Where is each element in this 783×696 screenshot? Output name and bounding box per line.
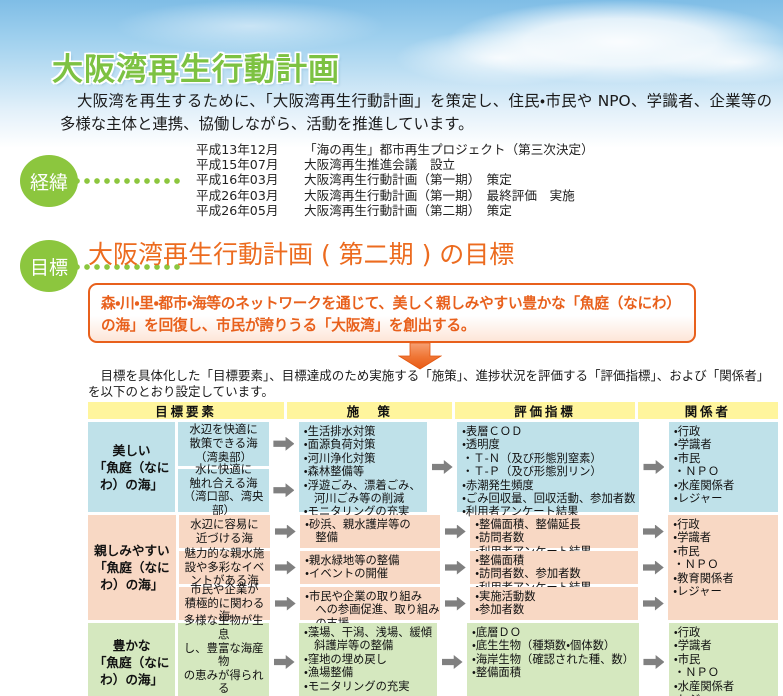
bullet-item: 生活排水対策 [304,425,422,438]
bullet-item: 海岸生物（確認された種、数） [472,653,634,666]
sub-element-column: 水辺に容易に近づける海魅力的な親水施設や多彩なイベントがある海市民や企業が積極的… [179,515,270,620]
flow-arrow-icon [430,422,454,512]
history-item-event: 大阪湾再生行動計画（第二期） 策定 [304,203,512,218]
indicators-column: 表層ＣＯＤ透明度Ｔ-Ｎ（及び形態別窒素）Ｔ-Ｐ（及び形態別リン）赤潮発生頻度ごみ… [457,422,639,512]
intro-paragraph: 大阪湾を再生するために、「大阪湾再生行動計画」を策定し、住民・市民や NPO、学… [60,90,772,136]
column-header-stakeholders: 関係者 [638,402,778,419]
bullet-item: 学識者 [674,438,773,451]
bullet-item: 学識者 [673,531,773,544]
history-item-date: 平成15年07月 [196,157,304,172]
indicators-column: 底層ＤＯ底生生物（種類数・個体数）海岸生物（確認された種、数）整備面積 [467,623,639,696]
goal-heading: 大阪湾再生行動計画 ( 第二期 ) の目標 [88,235,514,271]
bullet-item: 訪問者数 [475,531,633,544]
history-item-event: 「海の再生」都市再生プロジェクト（第三次決定） [304,142,594,157]
table-body: 美しい「魚庭（なにわ）の海」水辺を快適に散策できる海（湾奥部）水に快適に触れ合え… [88,422,778,696]
bullet-item: レジャー [673,585,773,598]
history-list: 平成13年12月「海の再生」都市再生プロジェクト（第三次決定）平成15年07月大… [196,142,594,218]
cell-sub-element: 水に快適に触れ合える海（湾口部、湾央部） [178,469,269,513]
bullet-item: レジャー [674,492,773,505]
cell-bullet-list: 砂浜、親水護岸等の整備 [300,515,440,548]
cell-stakeholders: 行政学識者市民ＮＰＯ水産関係者レジャー [669,623,778,696]
bullet-item: 表層ＣＯＤ [462,425,634,438]
bullet-item: 親水緑地等の整備 [305,554,435,567]
bullet-item: Ｔ-Ｐ（及び形態別リン） [462,465,634,478]
sub-element-column: 水辺を快適に散策できる海（湾奥部）水に快適に触れ合える海（湾口部、湾央部） [178,422,269,512]
flow-arrow-icon [641,587,665,620]
flow-arrow-icon [641,551,665,584]
bullet-item: 藻場、干潟、浅場、緩傾斜護岸等の整備 [304,626,432,653]
bullet-item: 透明度 [462,438,634,451]
page-title: 大阪湾再生行動計画 [52,44,340,89]
bullet-item: 整備面積、整備延長 [475,518,633,531]
arrow-column-3 [641,515,665,620]
bullet-item: 浮遊ごみ、漂着ごみ、河川ごみ等の削減 [304,479,422,506]
bullet-item: 市民 [673,545,773,558]
bullet-item: 学識者 [674,639,773,652]
goal-statement-line-2: の海」を回復し、市民が誇りうる「大阪湾」を創出する。 [101,315,683,337]
cell-bullet-list: 整備面積、整備延長訪問者数利用者アンケート結果 [470,515,638,548]
bullet-item: 底層ＤＯ [472,626,634,639]
history-item: 平成13年12月「海の再生」都市再生プロジェクト（第三次決定） [196,142,594,157]
arrow-column-3 [642,422,666,512]
flow-arrow-icon [443,515,467,548]
bullet-item: 訪問者数、参加者数 [475,567,633,580]
flow-arrow-icon [642,422,666,512]
flow-arrow-icon [642,623,666,696]
column-header-measures: 施 策 [287,402,452,419]
history-item: 平成26年05月大阪湾再生行動計画（第二期） 策定 [196,203,594,218]
flow-arrow-icon [272,469,296,513]
bullet-item: ＮＰＯ [673,558,773,571]
history-item-event: 大阪湾再生推進会議 設立 [304,157,455,172]
flow-arrow-icon [440,623,464,696]
bullet-item: ＮＰＯ [674,666,773,679]
goal-badge: 目標 [20,240,78,292]
history-item: 平成15年07月大阪湾再生推進会議 設立 [196,157,594,172]
flow-arrow-icon [641,515,665,548]
flow-arrow-icon [272,623,296,696]
bullet-item: 参加者数 [475,603,633,616]
history-dotted-connector [74,178,184,184]
bullet-item: 行政 [674,425,773,438]
measures-column: 砂浜、親水護岸等の整備親水緑地等の整備イベントの開催市民や企業の取り組みへの参画… [300,515,440,620]
bullet-item: 赤潮発生頻度 [462,479,634,492]
cell-sub-element: 水辺を快適に散策できる海（湾奥部） [178,422,269,466]
bullet-item: イベントの開催 [305,567,435,580]
cell-stakeholders: 行政学識者市民ＮＰＯ水産関係者レジャー [669,422,778,512]
bullet-item: モニタリングの充実 [304,680,432,693]
flow-arrow-icon [272,422,296,466]
cell-sub-element: 水辺に容易に近づける海 [179,515,270,548]
bullet-item: 水産関係者 [674,479,773,492]
cell-bullet-list: 実施活動数参加者数 [470,587,638,620]
bullet-item: 河川浄化対策 [304,452,422,465]
cell-stakeholders: 行政学識者市民ＮＰＯ教育関係者レジャー [668,515,778,620]
flow-arrow-icon [443,551,467,584]
history-item-event: 大阪湾再生行動計画（第一期） 策定 [304,172,512,187]
bullet-item: 水産関係者 [674,680,773,693]
bullet-item: 漁場整備 [304,666,432,679]
cell-bullet-list: 生活排水対策面源負荷対策河川浄化対策森林整備等浮遊ごみ、漂着ごみ、河川ごみ等の削… [299,422,427,512]
history-item-date: 平成16年03月 [196,172,304,187]
bullet-item: 市民 [674,653,773,666]
bullet-item: 砂浜、親水護岸等の整備 [305,518,435,545]
table-row: 豊かな「魚庭（なにわ）の海」多様な生物が生息し、豊富な海産物の恵みが得られる海藻… [88,623,778,696]
arrow-column-1 [272,623,296,696]
cell-sub-element: 魅力的な親水施設や多彩なイベントがある海 [179,551,270,584]
arrow-column-2 [443,515,467,620]
measures-column: 藻場、干潟、浅場、緩傾斜護岸等の整備窪地の埋め戻し漁場整備モニタリングの充実 [299,623,437,696]
bullet-item: 面源負荷対策 [304,438,422,451]
cell-bullet-list: 藻場、干潟、浅場、緩傾斜護岸等の整備窪地の埋め戻し漁場整備モニタリングの充実 [299,623,437,696]
goal-statement-box: 森・川・里・都市・海等のネットワークを通じて、美しく親しみやすい豊かな「魚庭（な… [88,283,696,343]
history-item-date: 平成26年05月 [196,203,304,218]
bullet-item: 整備面積 [472,666,634,679]
down-arrow-icon [398,343,442,370]
goal-framework-table: 目標要素 施 策 評価指標 関係者 美しい「魚庭（なにわ）の海」水辺を快適に散策… [88,402,778,696]
bullet-item: Ｔ-Ｎ（及び形態別窒素） [462,452,634,465]
history-item-event: 大阪湾再生行動計画（第一期） 最終評価 実施 [304,188,575,203]
bullet-item: 森林整備等 [304,465,422,478]
cell-goal-element: 親しみやすい「魚庭（なにわ）の海」 [88,515,176,620]
cell-bullet-list: 整備面積訪問者数、参加者数利用者アンケート結果 [470,551,638,584]
history-item-date: 平成13年12月 [196,142,304,157]
bullet-item: 市民 [674,452,773,465]
arrow-column-1 [273,515,297,620]
bullet-item: ＮＰＯ [674,465,773,478]
arrow-column-3 [642,623,666,696]
cell-sub-element: 多様な生物が生息し、豊富な海産物の恵みが得られる海 [178,623,269,696]
flow-arrow-icon [273,515,297,548]
cell-bullet-list: 市民や企業の取り組みへの参画促進、取り組みの支援 [300,587,440,620]
page-root: 大阪湾再生行動計画 大阪湾を再生するために、「大阪湾再生行動計画」を策定し、住民… [0,0,783,696]
cell-bullet-list: 親水緑地等の整備イベントの開催 [300,551,440,584]
table-intro-note: 目標を具体化した「目標要素」、目標達成のため実施する「施策」、進捗状況を評価する… [88,368,778,400]
cell-bullet-list: 底層ＤＯ底生生物（種類数・個体数）海岸生物（確認された種、数）整備面積 [467,623,639,696]
cell-bullet-list: 表層ＣＯＤ透明度Ｔ-Ｎ（及び形態別窒素）Ｔ-Ｐ（及び形態別リン）赤潮発生頻度ごみ… [457,422,639,512]
history-badge: 経緯 [20,155,78,207]
arrow-column-1 [272,422,296,512]
flow-arrow-icon [273,551,297,584]
arrow-column-2 [430,422,454,512]
table-row: 美しい「魚庭（なにわ）の海」水辺を快適に散策できる海（湾奥部）水に快適に触れ合え… [88,422,778,512]
bullet-item: 行政 [673,518,773,531]
cell-goal-element: 豊かな「魚庭（なにわ）の海」 [88,623,175,696]
bullet-item: 整備面積 [475,554,633,567]
table-header-row: 目標要素 施 策 評価指標 関係者 [88,402,778,419]
cell-goal-element: 美しい「魚庭（なにわ）の海」 [88,422,175,512]
goal-statement-line-1: 森・川・里・都市・海等のネットワークを通じて、美しく親しみやすい豊かな「魚庭（な… [101,293,683,315]
bullet-item: 底生生物（種類数・個体数） [472,639,634,652]
history-item-date: 平成26年03月 [196,188,304,203]
bullet-item: ごみ回収量、回収活動、参加者数 [462,492,634,505]
flow-arrow-icon [443,587,467,620]
column-header-indicators: 評価指標 [455,402,634,419]
measures-column: 生活排水対策面源負荷対策河川浄化対策森林整備等浮遊ごみ、漂着ごみ、河川ごみ等の削… [299,422,427,512]
flow-arrow-icon [273,587,297,620]
sub-element-column: 多様な生物が生息し、豊富な海産物の恵みが得られる海 [178,623,269,696]
arrow-column-2 [440,623,464,696]
history-item: 平成16年03月大阪湾再生行動計画（第一期） 策定 [196,172,594,187]
bullet-item: 教育関係者 [673,572,773,585]
history-item: 平成26年03月大阪湾再生行動計画（第一期） 最終評価 実施 [196,188,594,203]
bullet-item: 行政 [674,626,773,639]
column-header-element: 目標要素 [88,402,284,419]
indicators-column: 整備面積、整備延長訪問者数利用者アンケート結果整備面積訪問者数、参加者数利用者ア… [470,515,638,620]
bullet-item: 実施活動数 [475,590,633,603]
table-row: 親しみやすい「魚庭（なにわ）の海」水辺に容易に近づける海魅力的な親水施設や多彩な… [88,515,778,620]
bullet-item: 窪地の埋め戻し [304,653,432,666]
